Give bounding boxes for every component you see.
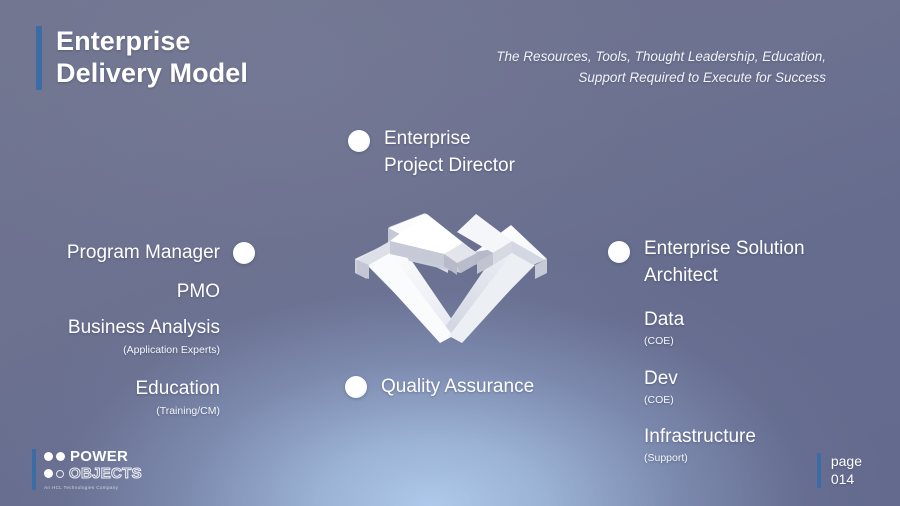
bullet-dot-icon xyxy=(345,376,367,398)
role-text-block: Enterprise Project Director xyxy=(384,126,515,180)
slide-canvas: Enterprise Delivery Model The Resources,… xyxy=(0,0,900,506)
role-group-enterprise-project-director: Enterprise Project Director xyxy=(348,126,515,180)
brand-word-objects: OBJECTS xyxy=(69,466,142,481)
role-label-education: Education xyxy=(0,376,220,403)
slide-subtitle: The Resources, Tools, Thought Leadership… xyxy=(496,47,826,89)
role-sublist-left: PMO Business Analysis (Application Exper… xyxy=(0,279,255,418)
role-label-enterprise-solution-architect-line-1: Enterprise Solution xyxy=(644,236,805,263)
role-group-right-column: Enterprise Solution Architect Data (COE)… xyxy=(608,236,805,466)
footer-accent-bar xyxy=(32,449,36,490)
page-accent-bar xyxy=(817,453,821,488)
logo-dot-outline-icon xyxy=(56,470,64,478)
role-label-line-1: Enterprise xyxy=(384,126,515,153)
brand-tagline: An HCL Technologies Company xyxy=(44,485,142,490)
title-line-2: Delivery Model xyxy=(56,58,248,90)
title-accent-bar xyxy=(36,26,42,90)
page-title: Enterprise Delivery Model xyxy=(36,26,248,90)
powerobjects-heart-ribbon-icon xyxy=(343,205,559,345)
role-sublabel-education: (Training/CM) xyxy=(0,405,220,419)
title-line-1: Enterprise xyxy=(56,26,248,58)
page-number: 014 xyxy=(831,471,862,489)
bullet-dot-icon xyxy=(233,242,255,264)
logo-dot-icon xyxy=(56,452,65,461)
title-lines: Enterprise Delivery Model xyxy=(56,26,248,90)
role-label-quality-assurance: Quality Assurance xyxy=(381,374,534,401)
role-sublabel-infrastructure: (Support) xyxy=(644,452,805,466)
bullet-dot-icon xyxy=(348,130,370,152)
subtitle-line-2: Support Required to Execute for Success xyxy=(496,68,826,89)
powerobjects-row-objects: OBJECTS xyxy=(44,466,142,481)
role-sublist-right: Enterprise Solution Architect Data (COE)… xyxy=(644,236,805,466)
powerobjects-wordmark: POWER OBJECTS An HCL Technologies Compan… xyxy=(44,449,142,490)
role-group-quality-assurance: Quality Assurance xyxy=(345,374,534,401)
role-sublabel-business-analysis: (Application Experts) xyxy=(0,344,220,358)
logo-dot-icon xyxy=(44,452,53,461)
powerobjects-row-power: POWER xyxy=(44,449,142,464)
role-label-dev: Dev xyxy=(644,366,805,393)
role-label-pmo: PMO xyxy=(0,279,220,306)
bullet-dot-icon xyxy=(608,241,630,263)
role-sublabel-dev: (COE) xyxy=(644,394,805,408)
role-label-infrastructure: Infrastructure xyxy=(644,424,805,451)
role-row-program-manager: Program Manager xyxy=(0,240,255,267)
role-group-left-column: Program Manager PMO Business Analysis (A… xyxy=(0,240,255,418)
role-label-program-manager: Program Manager xyxy=(67,240,220,267)
page-label: page xyxy=(831,453,862,471)
role-label-enterprise-solution-architect-line-2: Architect xyxy=(644,263,805,290)
powerobjects-footer-logo: POWER OBJECTS An HCL Technologies Compan… xyxy=(32,449,142,490)
brand-word-power: POWER xyxy=(70,449,128,464)
logo-dot-icon xyxy=(44,469,53,478)
page-text-block: page 014 xyxy=(831,453,862,488)
role-label-line-2: Project Director xyxy=(384,153,515,180)
subtitle-line-1: The Resources, Tools, Thought Leadership… xyxy=(496,47,826,68)
page-number-marker: page 014 xyxy=(817,453,862,488)
role-label-data: Data xyxy=(644,307,805,334)
role-sublabel-data: (COE) xyxy=(644,335,805,349)
role-label-business-analysis: Business Analysis xyxy=(0,315,220,342)
